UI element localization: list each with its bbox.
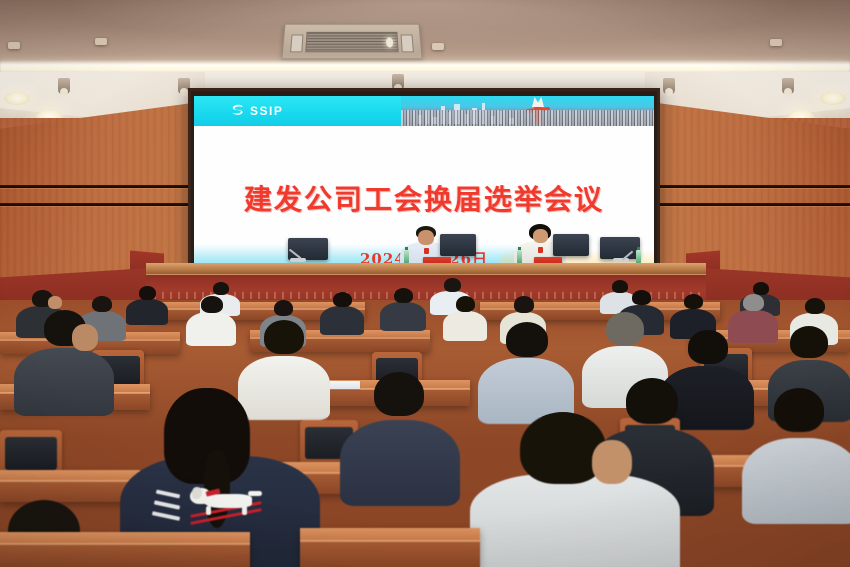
wall-spotlight-icon (782, 78, 794, 94)
wall-groove (0, 203, 190, 206)
conference-room-photo: SSIP 建发公司工会换届选举会议 2024年7月26日 (0, 0, 850, 567)
ac-vent-grille (305, 32, 399, 53)
laptop (600, 237, 640, 259)
recessed-downlight-icon (820, 92, 846, 105)
audience-member (340, 372, 460, 502)
water-bottle (517, 250, 522, 264)
ac-vent-blade-left (290, 34, 304, 51)
monument-sculpture-icon (525, 97, 551, 123)
skyline-towers (416, 100, 522, 124)
head (533, 229, 548, 243)
ceiling-spot-icon (95, 38, 107, 45)
audience-member (380, 288, 426, 328)
wall-groove (0, 185, 190, 188)
laptop (440, 234, 476, 256)
audience-member (186, 296, 236, 342)
wall-spotlight-icon (663, 78, 675, 94)
audience-desk-row4 (0, 470, 140, 502)
ac-vent-icon (281, 24, 422, 59)
laptop (288, 238, 328, 260)
laptop (553, 234, 589, 256)
head (592, 440, 632, 484)
ceiling-spot-icon (432, 43, 444, 50)
audience-desk-foreground (300, 528, 480, 567)
ssip-logo: SSIP (230, 103, 283, 118)
water-bottle (636, 250, 641, 264)
recessed-downlight-icon (4, 92, 30, 105)
audience-member (14, 310, 114, 410)
lapel-badge (538, 247, 543, 253)
head (418, 230, 434, 245)
lapel-badge (424, 248, 429, 254)
wall-groove (660, 203, 850, 206)
audience-desk-foreground (0, 532, 250, 567)
dachshund-dog-icon (186, 484, 272, 520)
ceiling-spot-icon (770, 39, 782, 46)
wall-spotlight-icon (58, 78, 70, 94)
water-bottle (404, 250, 409, 264)
city-skyline-banner-icon (401, 96, 654, 126)
audience-member (478, 322, 574, 420)
ssip-s-mark-icon (230, 103, 245, 118)
ac-vent-blade-right (401, 34, 415, 51)
ceiling-spot-icon (8, 42, 20, 49)
ac-vent-bulb (386, 38, 394, 48)
torso (470, 474, 680, 567)
microphone-base (290, 258, 306, 262)
slide-title: 建发公司工会换届选举会议 (194, 178, 654, 218)
audience-member (126, 286, 168, 322)
wall-groove (660, 185, 850, 188)
audience-member (742, 388, 850, 518)
audience-member-foreground (470, 412, 680, 567)
ssip-logo-text: SSIP (250, 104, 283, 118)
